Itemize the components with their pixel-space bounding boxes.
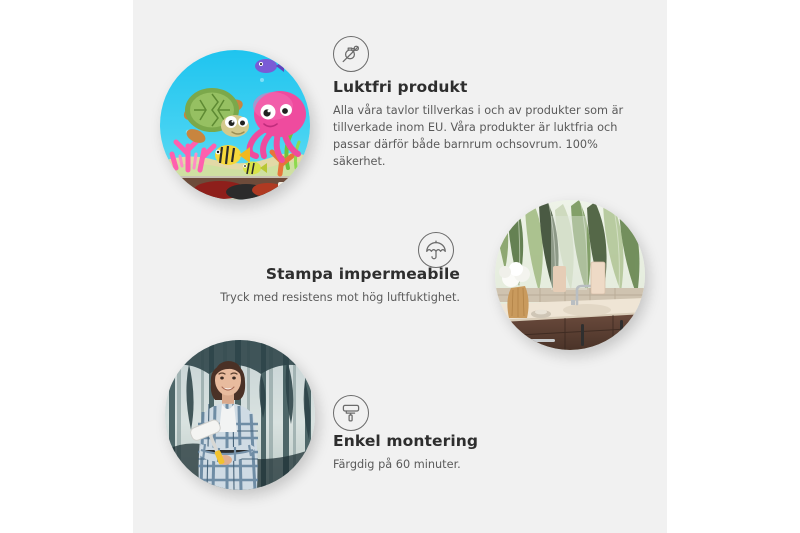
feature-odourless: Luktfri produkt Alla våra tavlor tillver… [333,78,625,170]
feature-waterproof-body: Tryck med resistens mot hög luftfuktighe… [210,289,460,306]
feature-waterproof-title: Stampa impermeabile [210,265,460,284]
image-bathroom-tropical-wallpaper [495,200,645,350]
feature-waterproof: Stampa impermeabile Tryck med resistens … [210,265,460,306]
image-woman-forest-wallpaper [165,340,315,490]
paint-roller-icon [333,395,369,431]
feature-easy-mounting: Enkel montering Färgdig på 60 minuter. [333,432,583,473]
umbrella-icon [418,232,454,268]
no-fragrance-icon [333,36,369,72]
feature-odourless-title: Luktfri produkt [333,78,625,97]
feature-easy-mounting-title: Enkel montering [333,432,583,451]
image-underwater-sea-life [160,50,310,200]
feature-infographic: Luktfri produkt Alla våra tavlor tillver… [0,0,800,533]
feature-odourless-body: Alla våra tavlor tillverkas i och av pro… [333,102,625,171]
feature-easy-mounting-body: Färgdig på 60 minuter. [333,456,583,473]
